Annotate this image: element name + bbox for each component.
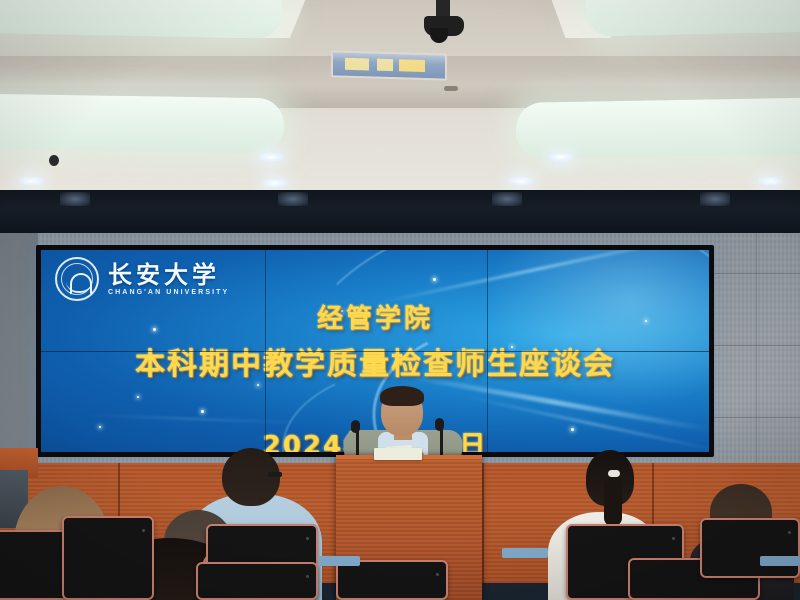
- vent-slot: [345, 58, 369, 71]
- microphone-left: [351, 420, 360, 433]
- ceiling-light-panel-2: [0, 94, 284, 154]
- speaker-hair: [380, 386, 424, 406]
- desk-monitor-edge: [318, 556, 360, 566]
- ceiling-speaker-icon: [49, 155, 59, 166]
- ceiling-light-panel-4: [516, 97, 800, 159]
- attendee-4-head: [222, 448, 280, 506]
- wall-left-return: [0, 233, 38, 468]
- vent-slot: [399, 59, 425, 72]
- band-glint: [60, 192, 90, 206]
- ceiling-light-panel-1: [0, 0, 282, 39]
- screen-sparkle: [433, 278, 436, 281]
- downlight: [508, 176, 534, 186]
- video-wall-display: 长安大学 CHANG'AN UNIVERSITY 经管学院 本科期中教学质量检查…: [41, 250, 709, 452]
- university-name-en: CHANG'AN UNIVERSITY: [108, 289, 229, 296]
- downlight: [18, 176, 44, 186]
- ceiling-light-panel-3: [586, 0, 800, 37]
- ceiling-wall-shadow-band: [0, 190, 800, 235]
- microphone-right: [435, 418, 444, 431]
- university-logo: 长安大学 CHANG'AN UNIVERSITY: [55, 257, 229, 301]
- attendee-5-hair-tie: [608, 470, 620, 477]
- downlight: [758, 176, 784, 186]
- chair[interactable]: [336, 560, 448, 600]
- podium-document: [374, 448, 422, 460]
- downlight: [258, 152, 284, 162]
- university-name-cn: 长安大学: [108, 262, 229, 287]
- attendee-4-glasses-icon: [268, 472, 282, 477]
- desk-seam: [482, 463, 484, 583]
- chang-an-university-emblem-icon: [55, 257, 99, 301]
- slide-text-block: 经管学院 本科期中教学质量检查师生座谈会 2024年5月10日: [41, 298, 709, 452]
- desk-monitor-edge: [502, 548, 548, 558]
- video-wall[interactable]: 长安大学 CHANG'AN UNIVERSITY 经管学院 本科期中教学质量检查…: [36, 245, 714, 457]
- band-glint: [700, 192, 730, 206]
- band-glint: [278, 192, 308, 206]
- lecture-hall-scene: 长安大学 CHANG'AN UNIVERSITY 经管学院 本科期中教学质量检查…: [0, 0, 800, 600]
- band-glint: [492, 192, 522, 206]
- video-wall-seam: [41, 351, 709, 352]
- vent-slot: [377, 59, 393, 71]
- attendee-5-ponytail: [604, 478, 622, 526]
- slide-line-department: 经管学院: [41, 298, 709, 335]
- ceiling: [0, 0, 800, 196]
- chair[interactable]: [196, 562, 318, 600]
- emblem-arc: [66, 281, 92, 293]
- ceiling-vent-icon: [331, 50, 447, 80]
- chair[interactable]: [62, 516, 154, 600]
- downlight: [548, 152, 574, 162]
- chair[interactable]: [700, 518, 800, 578]
- slide-line-title: 本科期中教学质量检查师生座谈会: [41, 339, 709, 383]
- projector-lens-icon: [430, 28, 448, 43]
- downlight: [262, 178, 288, 188]
- wall-seam: [756, 233, 757, 468]
- ceiling-sensor-icon: [444, 86, 458, 91]
- video-wall-seam: [487, 250, 488, 452]
- video-wall-seam: [265, 250, 266, 452]
- desk-monitor-edge: [760, 556, 800, 566]
